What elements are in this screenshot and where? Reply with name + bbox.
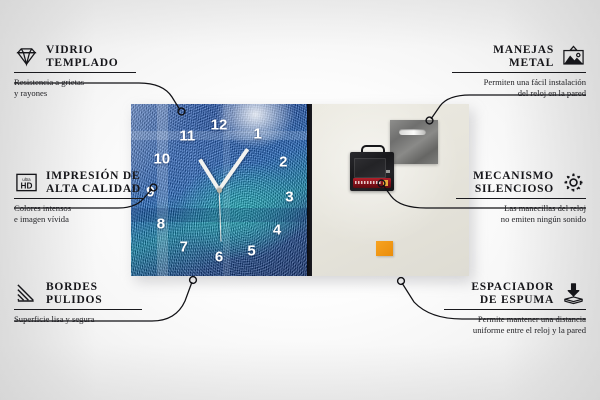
feature-divider [444,309,586,310]
feature-title: ESPACIADOR DE ESPUMA [471,281,554,306]
feature-espaciador-espuma[interactable]: ESPACIADOR DE ESPUMA Permite mantener un… [444,281,586,336]
diamond-icon [14,45,39,68]
feature-divider [14,309,142,310]
clock-number-4: 4 [273,222,281,237]
mechanism-body [350,152,394,191]
ultra-hd-icon: ultra HD [14,171,39,194]
mechanism-panel [354,158,386,178]
feature-title: IMPRESIÓN DE ALTA CALIDAD [46,170,141,195]
infographic-canvas: 12 1 2 3 4 5 6 7 8 9 10 11 [0,0,600,400]
clock-front-face: 12 1 2 3 4 5 6 7 8 9 10 11 [131,104,307,276]
clock-number-12: 12 [211,117,228,132]
clock-number-6: 6 [215,250,223,265]
battery-terminal [383,180,388,186]
clock-number-1: 1 [254,127,262,142]
product-image: 12 1 2 3 4 5 6 7 8 9 10 11 [131,104,469,276]
battery-label-stripe [355,181,381,184]
arrow-down-block-icon [561,282,586,305]
feature-divider [452,72,586,73]
clock-number-10: 10 [153,152,170,167]
diagonal-lines-icon [14,282,39,305]
metal-hanger-plate [390,120,438,164]
feature-divider [14,198,144,199]
feature-bordes-pulidos[interactable]: BORDES PULIDOS Superficie lisa y segura [14,281,142,325]
clock-pattern-band-v1 [157,104,168,276]
feature-mecanismo-silencioso[interactable]: MECANISMO SILENCIOSO Las manecillas del … [456,170,586,225]
feature-description: Permiten una fácil instalación del reloj… [452,77,586,98]
hanger-slot [399,129,426,135]
mechanism-contact [386,170,390,173]
feature-divider [456,198,586,199]
quartz-mechanism [350,149,394,191]
feature-description: Permite mantener una distancia uniforme … [444,314,586,335]
clock-number-7: 7 [180,239,188,254]
feature-description: Resistencia a grietas y rayones [14,77,136,98]
feature-manejas-metal[interactable]: MANEJAS METAL Permiten una fácil instala… [452,44,586,99]
clock-number-8: 8 [157,216,165,231]
feature-title: BORDES PULIDOS [46,281,102,306]
picture-frame-icon [561,45,586,68]
feature-divider [14,72,136,73]
clock-back-panel [312,104,469,276]
clock-number-2: 2 [279,155,287,170]
feature-description: Las manecillas del reloj no emiten ningú… [456,203,586,224]
gear-icon [561,171,586,194]
clock-number-5: 5 [247,244,255,259]
clock-center-pin [217,188,222,193]
feature-impresion-alta-calidad[interactable]: ultra HD IMPRESIÓN DE ALTA CALIDAD Color… [14,170,144,225]
feature-description: Colores intensos e imagen vívida [14,203,144,224]
svg-text:HD: HD [21,181,33,190]
feature-description: Superficie lisa y segura [14,314,142,325]
feature-title: MECANISMO SILENCIOSO [473,170,554,195]
battery [353,178,391,188]
clock-number-9: 9 [146,184,154,199]
feature-title: MANEJAS METAL [493,44,554,69]
feature-title: VIDRIO TEMPLADO [46,44,118,69]
clock-number-3: 3 [285,189,293,204]
feature-vidrio-templado[interactable]: VIDRIO TEMPLADO Resistencia a grietas y … [14,44,136,99]
foam-spacer [376,241,393,256]
clock-number-11: 11 [179,128,195,143]
